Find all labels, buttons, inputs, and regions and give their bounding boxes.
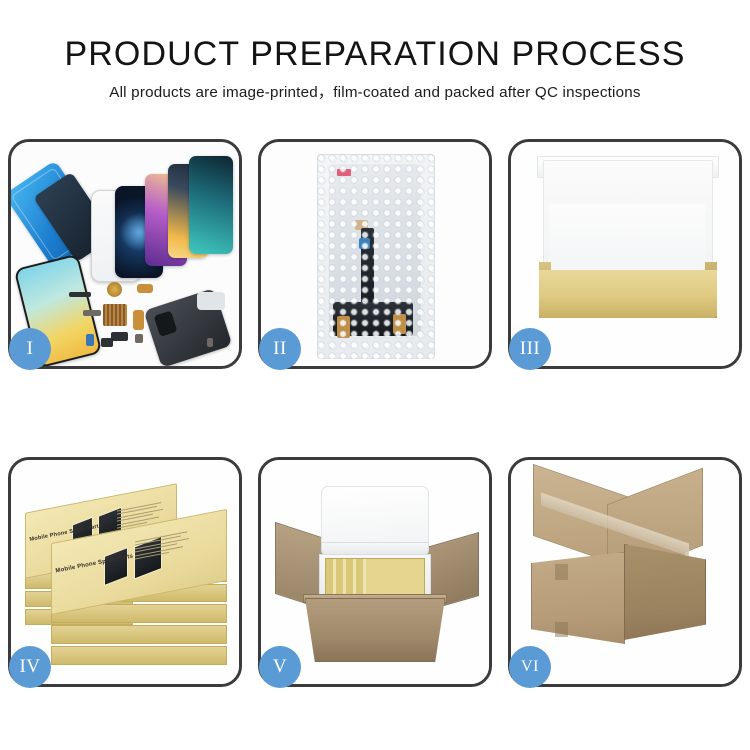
spare-part-flex-cable	[137, 284, 153, 293]
flex-connector	[359, 238, 370, 249]
step-badge-6: VI	[509, 646, 551, 688]
spare-part-camera	[101, 338, 113, 347]
step-badge-4: IV	[9, 646, 51, 688]
page-title: PRODUCT PREPARATION PROCESS	[0, 34, 750, 74]
process-step-panel-5[interactable]: V	[258, 457, 492, 687]
page-subtitle: All products are image-printed，film-coat…	[0, 83, 750, 103]
spare-part-chip	[103, 304, 127, 326]
step-5-image	[261, 460, 489, 684]
process-step-panel-6[interactable]: VI	[508, 457, 742, 687]
spare-part-ribbon	[133, 310, 144, 330]
product-preparation-infographic: PRODUCT PREPARATION PROCESS All products…	[0, 0, 750, 750]
carton-front-wall	[305, 598, 445, 662]
pink-tape-marker	[337, 169, 351, 176]
spare-part-small-screw	[207, 338, 213, 347]
step-badge-3: III	[509, 328, 551, 370]
kraft-box-front	[539, 270, 717, 318]
process-step-panel-3[interactable]: III	[508, 139, 742, 369]
carton-front-face	[531, 552, 625, 644]
carton-side-face	[624, 544, 706, 640]
step-2-image	[261, 142, 489, 366]
spare-part-screw-set	[135, 334, 143, 343]
spare-part-speaker	[107, 282, 122, 297]
retail-box-side-10	[51, 646, 227, 665]
step-badge-2: II	[259, 328, 301, 370]
retail-boxes-inside	[325, 558, 425, 596]
spare-part-module	[111, 332, 128, 341]
step-badge-5: V	[259, 646, 301, 688]
spare-part-bar	[69, 292, 91, 297]
spare-part-battery	[86, 334, 94, 346]
carton-handle-slot-bottom	[555, 622, 568, 637]
box-print-screen-2a	[104, 547, 128, 586]
step-4-image: Mobile Phone Spare Parts Mobile Phone Sp…	[11, 460, 239, 684]
spare-part-bracket	[83, 310, 101, 316]
carton-handle-slot-top	[555, 564, 568, 580]
white-foam-liner	[549, 204, 705, 270]
process-step-panel-4[interactable]: Mobile Phone Spare Parts Mobile Phone Sp…	[8, 457, 242, 687]
process-step-grid: I II	[8, 139, 742, 687]
step-badge-1: I	[9, 328, 51, 370]
gold-contact-right	[393, 314, 406, 334]
step-3-image	[511, 142, 739, 366]
spare-part-tool	[197, 292, 225, 310]
gold-contact-left	[337, 316, 350, 338]
retail-box-side-9	[51, 625, 227, 644]
process-step-panel-1[interactable]: I	[8, 139, 242, 369]
phone-screen-teal	[189, 156, 233, 254]
step-6-image	[511, 460, 739, 684]
header: PRODUCT PREPARATION PROCESS All products…	[0, 34, 750, 103]
process-step-panel-2[interactable]: II	[258, 139, 492, 369]
step-1-image	[11, 142, 239, 366]
